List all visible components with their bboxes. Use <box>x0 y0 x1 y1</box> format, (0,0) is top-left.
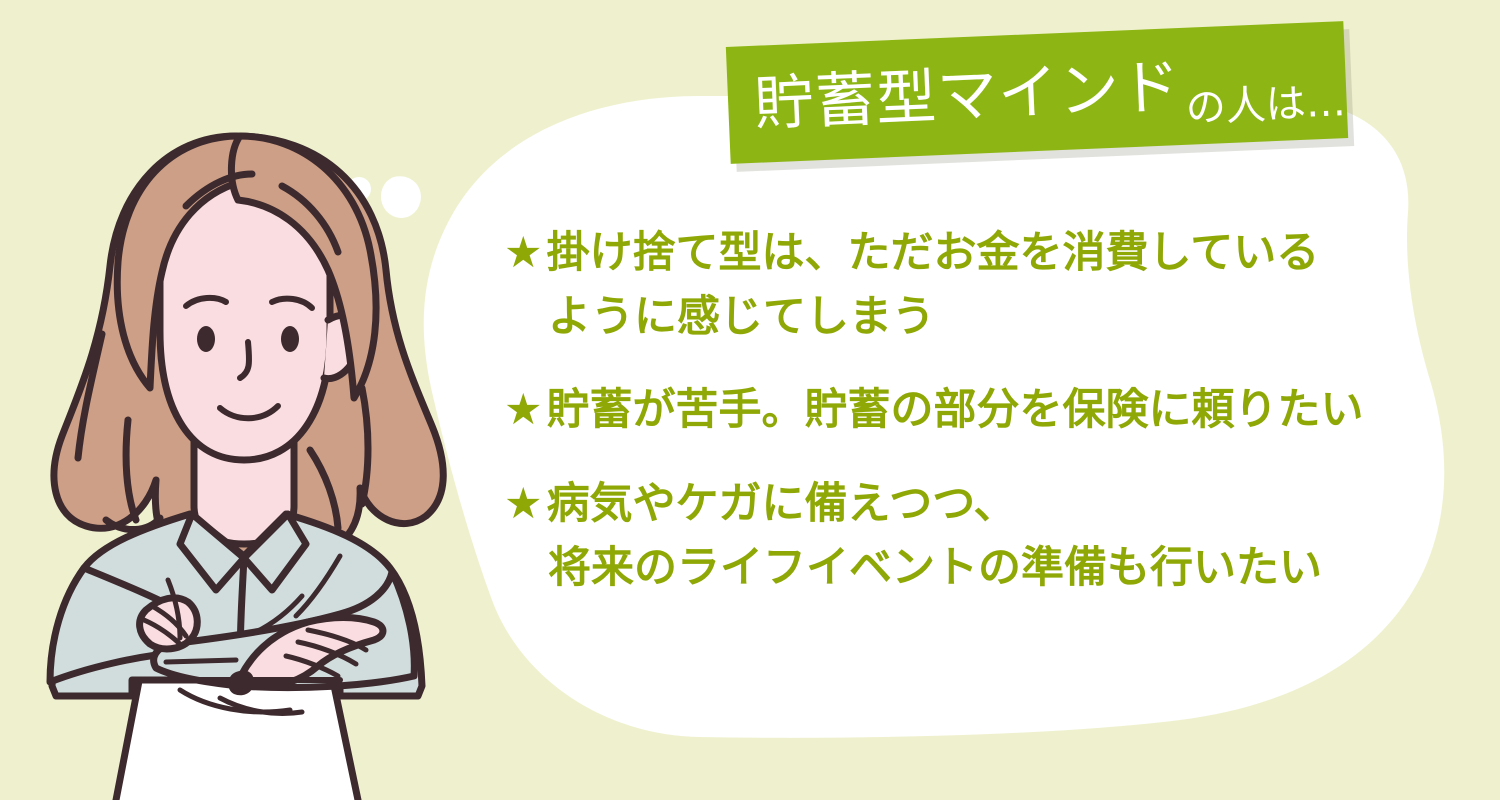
star-icon: ★ <box>504 379 543 443</box>
bullet-line: ★掛け捨て型は、ただお金を消費している <box>504 222 1434 286</box>
poster-canvas: 貯蓄型マインド の人は… ★掛け捨て型は、ただお金を消費している ように感じてし… <box>0 0 1500 800</box>
bullet-list: ★掛け捨て型は、ただお金を消費している ように感じてしまう ★貯蓄が苦手。貯蓄の… <box>504 222 1434 630</box>
bullet-text: 貯蓄が苦手。貯蓄の部分を保険に頼りたい <box>547 385 1364 435</box>
eye-left <box>197 326 215 352</box>
ribbon-title-tail: の人は… <box>1185 82 1347 129</box>
woman-illustration <box>40 120 460 800</box>
bullet-line: ように感じてしまう <box>504 286 1434 350</box>
bullet-line: 将来のライフイベントの準備も行いたい <box>504 537 1434 601</box>
star-icon: ★ <box>504 222 543 286</box>
bullet-text: 病気やケガに備えつつ、 <box>547 479 1017 529</box>
bullet-line: ★病気やケガに備えつつ、 <box>504 473 1434 537</box>
bullet-item: ★貯蓄が苦手。貯蓄の部分を保険に頼りたい <box>504 379 1434 443</box>
ribbon-title-main: 貯蓄型マインド <box>753 56 1182 134</box>
bullet-item: ★掛け捨て型は、ただお金を消費している ように感じてしまう <box>504 222 1434 349</box>
star-icon: ★ <box>504 473 543 537</box>
bullet-line: ★貯蓄が苦手。貯蓄の部分を保険に頼りたい <box>504 379 1434 443</box>
sleeve-fold-1 <box>166 660 236 662</box>
bullet-item: ★病気やケガに備えつつ、 将来のライフイベントの準備も行いたい <box>504 473 1434 600</box>
eye-right <box>281 326 299 352</box>
bullet-text: 掛け捨て型は、ただお金を消費している <box>547 228 1320 278</box>
